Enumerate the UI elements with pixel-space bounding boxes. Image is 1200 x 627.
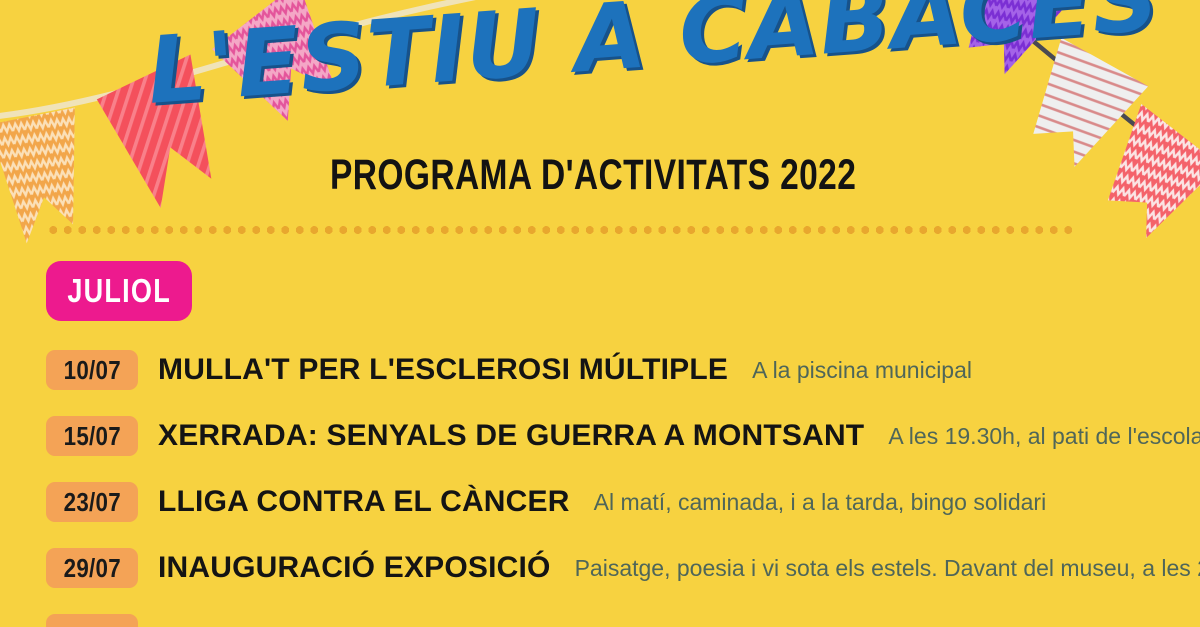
event-description: Paisatge, poesia i vi sota els estels. D…	[575, 555, 1200, 582]
event-title: LLIGA CONTRA EL CÀNCER	[158, 485, 570, 518]
event-title: INAUGURACIÓ EXPOSICIÓ	[158, 551, 551, 584]
poster-header: L'ESTIU A CABACÉS PROGRAMA D'ACTIVITATS …	[0, 0, 1200, 215]
event-title-cell: XERRADA: SENYALS DE GUERRA A MONTSANT	[158, 419, 888, 453]
page-title: L'ESTIU A CABACÉS	[145, 0, 1163, 118]
event-title: MULLA'T PER L'ESCLEROSI MÚLTIPLE	[158, 353, 728, 386]
event-date-label: 29/07	[63, 553, 120, 584]
event-title-cell: MULLA'T PER L'ESCLEROSI MÚLTIPLE	[158, 353, 752, 387]
event-date-label: 15/07	[63, 421, 120, 452]
event-description: A les 19.30h, al pati de l'escola	[888, 423, 1200, 450]
month-badge-juliol[interactable]: JULIOL	[46, 261, 192, 321]
event-date-chip	[46, 614, 138, 627]
event-row[interactable]: 10/07 MULLA'T PER L'ESCLEROSI MÚLTIPLE A…	[46, 348, 1186, 392]
event-date-chip: 10/07	[46, 350, 138, 390]
month-badge-label: JULIOL	[67, 272, 171, 310]
page-subtitle: PROGRAMA D'ACTIVITATS 2022	[330, 154, 856, 197]
event-date-label: 10/07	[63, 355, 120, 386]
event-description: Al matí, caminada, i a la tarda, bingo s…	[594, 489, 1047, 516]
event-date-chip: 15/07	[46, 416, 138, 456]
dotted-divider	[46, 226, 1076, 234]
event-date-chip: 29/07	[46, 548, 138, 588]
event-row[interactable]: 23/07 LLIGA CONTRA EL CÀNCER Al matí, ca…	[46, 480, 1186, 524]
event-list: 10/07 MULLA'T PER L'ESCLEROSI MÚLTIPLE A…	[46, 348, 1186, 627]
poster-canvas: L'ESTIU A CABACÉS PROGRAMA D'ACTIVITATS …	[0, 0, 1200, 627]
event-title-cell: INAUGURACIÓ EXPOSICIÓ	[158, 551, 575, 585]
event-row-clipped[interactable]	[46, 612, 1186, 627]
event-row[interactable]: 29/07 INAUGURACIÓ EXPOSICIÓ Paisatge, po…	[46, 546, 1186, 590]
event-description: A la piscina municipal	[752, 357, 972, 384]
event-row[interactable]: 15/07 XERRADA: SENYALS DE GUERRA A MONTS…	[46, 414, 1186, 458]
event-title: XERRADA: SENYALS DE GUERRA A MONTSANT	[158, 419, 864, 452]
event-date-chip: 23/07	[46, 482, 138, 522]
event-date-label: 23/07	[63, 487, 120, 518]
event-title-cell: LLIGA CONTRA EL CÀNCER	[158, 485, 594, 519]
